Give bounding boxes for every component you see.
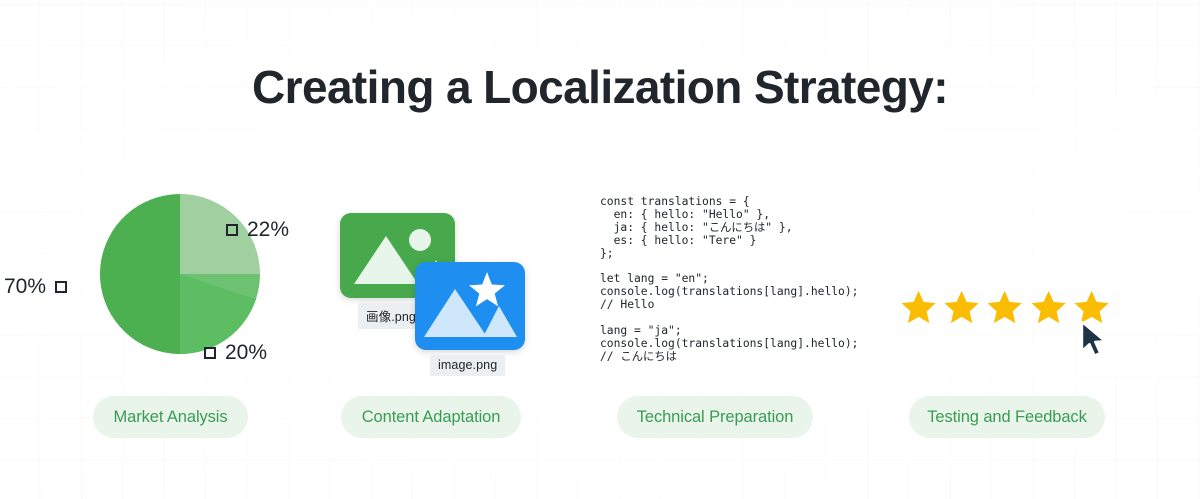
- pill-testing-and-feedback[interactable]: Testing and Feedback: [909, 396, 1105, 438]
- pie-marker-22: [226, 224, 238, 236]
- code-snippet-panel: const translations = { en: { hello: "Hel…: [600, 196, 860, 364]
- stage-pills: Market Analysis Content Adaptation Techn…: [0, 396, 1200, 438]
- pill-content-adaptation[interactable]: Content Adaptation: [341, 396, 521, 438]
- pill-market-analysis[interactable]: Market Analysis: [93, 396, 248, 438]
- star-icon-2[interactable]: [943, 288, 980, 326]
- filename-chip-english: image.png: [430, 355, 505, 376]
- pie-chart-panel: 70% 22% 20%: [36, 186, 336, 386]
- star-icon-3[interactable]: [986, 288, 1023, 326]
- pie-label-22: 22%: [226, 218, 289, 242]
- image-card-english[interactable]: [415, 262, 525, 350]
- star-icon-1[interactable]: [900, 288, 937, 326]
- slide-canvas: Creating a Localization Strategy: 70% 22…: [0, 0, 1200, 499]
- page-title: Creating a Localization Strategy:: [0, 62, 1200, 114]
- pie-marker-20: [204, 347, 216, 359]
- pill-technical-preparation[interactable]: Technical Preparation: [617, 396, 813, 438]
- star-icon-4[interactable]: [1030, 288, 1067, 326]
- pie-label-20-text: 20%: [225, 341, 267, 365]
- image-assets-panel: 画像.png image.png: [330, 200, 560, 390]
- mouse-cursor-icon: [1078, 320, 1112, 360]
- pie-label-70: 70%: [4, 275, 67, 299]
- rating-panel: [900, 288, 1110, 348]
- code-snippet: const translations = { en: { hello: "Hel…: [600, 196, 860, 364]
- pie-marker-70: [55, 281, 67, 293]
- pie-label-20: 20%: [204, 341, 267, 365]
- image-mountain-star-icon: [415, 262, 525, 350]
- pie-label-22-text: 22%: [247, 218, 289, 242]
- pie-label-70-text: 70%: [4, 275, 46, 299]
